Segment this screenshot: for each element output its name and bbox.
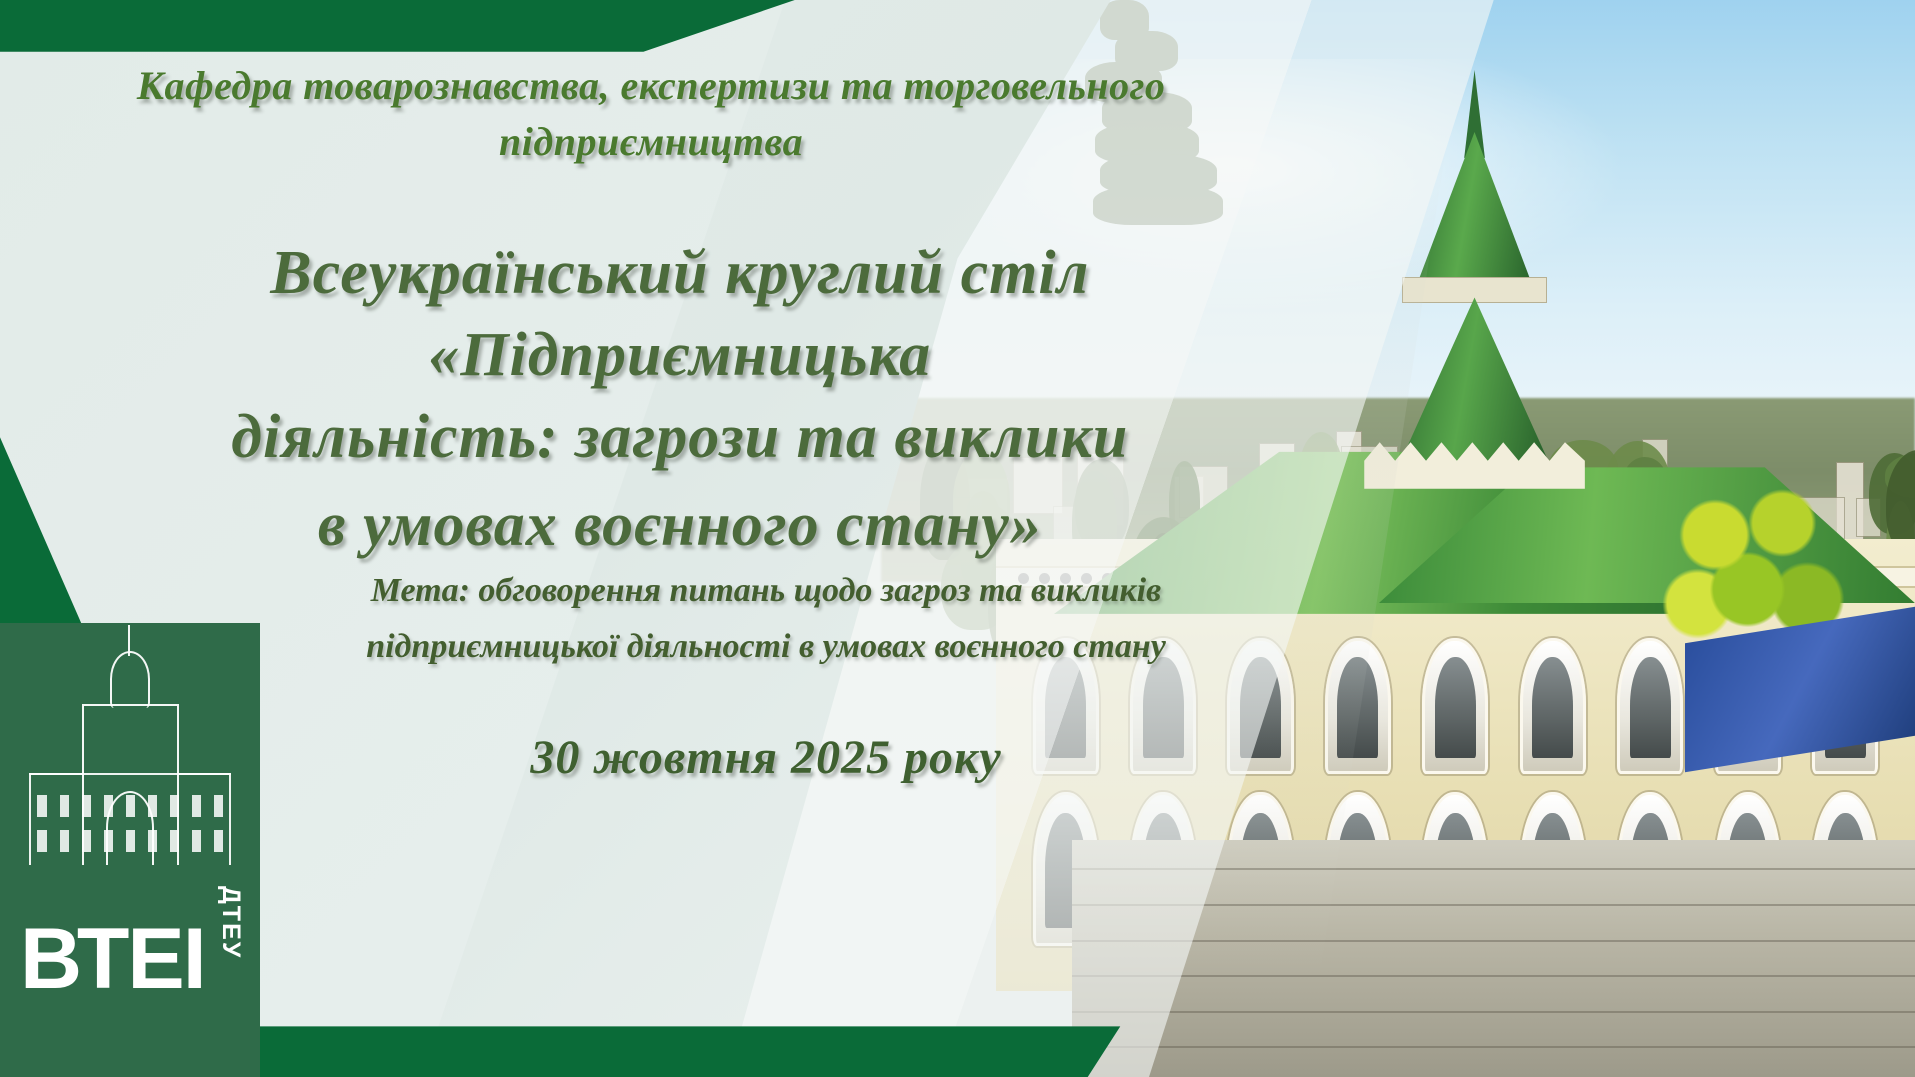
event-title-line-4: в умовах воєнного стану»	[0, 490, 1360, 561]
poster-banner: ВТЕІ ДТЕУ Кафедра товарознавства, експер…	[0, 0, 1915, 1077]
logo-window-row	[37, 830, 222, 852]
logo-window-row	[37, 795, 222, 817]
event-title-line-1: Всеукраїнський круглий стіл	[0, 238, 1360, 309]
event-title-line-3: діяльність: загрози та виклики	[0, 402, 1360, 473]
department-line-2: підприємництва	[0, 118, 1302, 165]
purpose-line-1: Мета: обговорення питань щодо загроз та …	[0, 572, 1532, 610]
logo-acronym: ВТЕІ	[20, 924, 205, 995]
purpose-line-2: підприємницької діяльності в умовах воєн…	[0, 628, 1532, 666]
department-line-1: Кафедра товарознавства, експертизи та то…	[0, 62, 1302, 109]
event-date: 30 жовтня 2025 року	[0, 730, 1532, 785]
event-title-line-2: «Підприємницька	[0, 320, 1360, 391]
logo-subtitle: ДТЕУ	[216, 886, 245, 959]
vtei-logo[interactable]: ВТЕІ ДТЕУ	[0, 623, 260, 1077]
